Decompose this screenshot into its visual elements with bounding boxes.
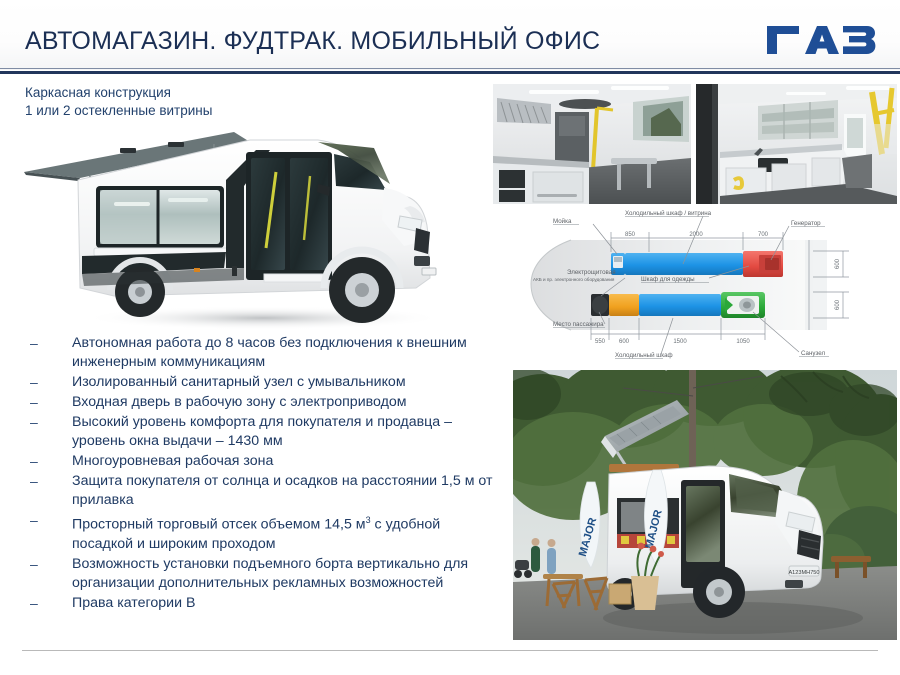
page-title: АВТОМАГАЗИН. ФУДТРАК. МОБИЛЬНЫЙ ОФИС — [25, 29, 600, 54]
slide: АВТОМАГАЗИН. ФУДТРАК. МОБИЛЬНЫЙ ОФИС Кар… — [0, 0, 900, 675]
bullet-text-volume: Просторный торговый отсек объемом 14,5 м… — [72, 511, 496, 554]
list-item: – Защита покупателя от солнца и осадков … — [26, 472, 496, 510]
list-item: – Входная дверь в рабочую зону с электро… — [26, 393, 496, 412]
bullet-marker: – — [26, 511, 72, 554]
dim-bottom-550: 550 — [595, 339, 606, 345]
list-item: – Высокий уровень комфорта для покупател… — [26, 413, 496, 451]
layout-diagram: 850 2000 700 550 600 1500 1050 — [513, 206, 897, 364]
slide-header: АВТОМАГАЗИН. ФУДТРАК. МОБИЛЬНЫЙ ОФИС — [0, 0, 900, 78]
dim-top-2000: 2000 — [689, 232, 703, 238]
footer-divider — [22, 650, 878, 651]
diagram-label-passenger-seat: Место пассажира — [553, 321, 604, 328]
subtitle-line-1: Каркасная конструкция — [25, 84, 212, 102]
dim-side-600-top: 600 — [835, 258, 841, 269]
bullet-marker: – — [26, 393, 72, 412]
bullet-text: Права категории В — [72, 594, 496, 613]
list-item: – Возможность установки подъемного борта… — [26, 555, 496, 593]
interior-photo-left — [493, 84, 691, 204]
bullet-text: Автономная работа до 8 часов без подключ… — [72, 334, 496, 372]
list-item: – Автономная работа до 8 часов без подкл… — [26, 334, 496, 372]
subtitle-line-2: 1 или 2 остекленные витрины — [25, 102, 212, 120]
dim-top-700: 700 — [758, 232, 769, 238]
header-divider-thick — [0, 71, 900, 74]
diagram-label-fridge-showcase: Холодильный шкаф / витрина — [625, 210, 712, 217]
list-item: – Многоуровневая рабочая зона — [26, 452, 496, 471]
bullet-text: Изолированный санитарный узел с умывальн… — [72, 373, 496, 392]
interior-photo-right — [696, 84, 897, 204]
diagram-label-generator: Генератор — [791, 220, 821, 227]
van-hero-photo — [18, 128, 488, 333]
bullet-marker: – — [26, 555, 72, 593]
dim-bottom-1500: 1500 — [673, 339, 687, 345]
bullet-text: Возможность установки подъемного борта в… — [72, 555, 496, 593]
diagram-label-wardrobe: Шкаф для одежды — [641, 276, 695, 283]
bullet-text: Высокий уровень комфорта для покупателя … — [72, 413, 496, 451]
bullet-text: Многоуровневая рабочая зона — [72, 452, 496, 471]
dim-side-600-bottom: 600 — [835, 299, 841, 310]
bullet-marker: – — [26, 334, 72, 372]
list-item: – Просторный торговый отсек объемом 14,5… — [26, 511, 496, 554]
bullet-marker: – — [26, 594, 72, 613]
subtitle-block: Каркасная конструкция 1 или 2 остекленны… — [25, 84, 212, 120]
bullet-text: Защита покупателя от солнца и осадков на… — [72, 472, 496, 510]
bullet-marker: – — [26, 452, 72, 471]
list-item: – Изолированный санитарный узел с умывал… — [26, 373, 496, 392]
dim-bottom-600: 600 — [619, 339, 630, 345]
bullet-marker: – — [26, 413, 72, 451]
license-plate-text: А123МН750 — [788, 570, 819, 576]
dim-bottom-1050: 1050 — [736, 339, 750, 345]
gaz-logo — [765, 20, 877, 58]
diagram-label-electrical-1: Электрощитовая — [567, 269, 616, 276]
diagram-label-restroom: Санузел — [801, 350, 825, 357]
bullet-text: Входная дверь в рабочую зону с электропр… — [72, 393, 496, 412]
diagram-label-sink: Мойка — [553, 218, 572, 225]
interior-photo-strip — [493, 84, 897, 204]
header-divider-thin — [0, 68, 900, 69]
feature-list: – Автономная работа до 8 часов без подкл… — [26, 334, 496, 614]
foodtruck-park-photo: А123МН750 MAJOR MAJOR — [513, 370, 897, 640]
diagram-label-electrical-2: АКБ и пр. электронного оборудования — [533, 277, 615, 282]
diagram-label-fridge: Холодильный шкаф — [615, 352, 673, 359]
bullet-marker: – — [26, 373, 72, 392]
dim-top-850: 850 — [625, 232, 636, 238]
list-item: – Права категории В — [26, 594, 496, 613]
bullet-marker: – — [26, 472, 72, 510]
